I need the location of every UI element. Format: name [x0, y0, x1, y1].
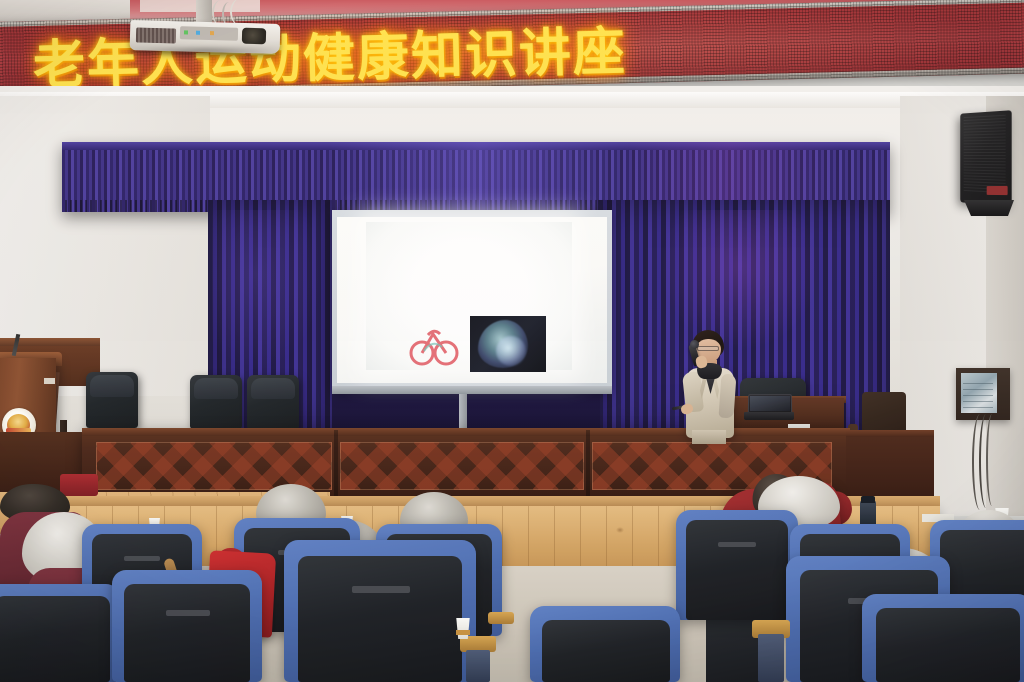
- female-presenter: [668, 330, 744, 438]
- curtain-highlight: [212, 210, 322, 370]
- vacuum-flask-cap: [861, 496, 875, 503]
- paper-cup-band: [456, 630, 470, 635]
- red-fabric-cover: [60, 474, 98, 496]
- stage-chair-headrest: [251, 378, 295, 399]
- screen-bottom-bar: [332, 386, 612, 394]
- stage-chair-headrest: [90, 375, 134, 397]
- seat-cushion: [0, 596, 110, 682]
- seat-cushion: [124, 584, 250, 682]
- seat-notch: [718, 542, 756, 547]
- railing-panel: [340, 442, 584, 490]
- curtain-sheen: [330, 142, 630, 212]
- screen-support-pole: [459, 394, 467, 432]
- presenter-lower-body: [692, 430, 726, 444]
- auditorium-scene: 老年人运动健康知识讲座: [0, 0, 1024, 682]
- lectern-name-plate: [44, 378, 55, 384]
- projector-vent: [136, 27, 176, 43]
- seat-notch: [124, 556, 160, 561]
- laptop-screen-glow: [750, 396, 790, 411]
- presenter-right-arm: [718, 374, 736, 419]
- seat-notch: [166, 610, 210, 616]
- wall-cabinet-glass-reflection: [963, 378, 993, 408]
- stage-chair-headrest: [194, 378, 238, 399]
- seat-cushion: [542, 620, 670, 682]
- curtain-highlight: [660, 210, 820, 350]
- laptop-keyboard[interactable]: [744, 412, 794, 420]
- ceiling-projector: [122, 0, 292, 60]
- railing-panel: [96, 442, 332, 490]
- seat-cushion: [686, 520, 788, 620]
- eyeglasses-icon: [697, 346, 719, 351]
- heart-diagram-icon: [404, 322, 462, 368]
- projector-mount-arm: [196, 0, 212, 24]
- wall-cable: [986, 414, 998, 506]
- seat-cushion: [876, 608, 1020, 682]
- wall-speaker-logo: [987, 186, 1008, 195]
- wall-speaker-grille: [964, 115, 1006, 193]
- projector-lens: [242, 28, 266, 45]
- projector-shadow: [132, 48, 278, 60]
- stage-railing-right-top: [846, 430, 934, 437]
- seat-armrest-post: [466, 650, 490, 682]
- brain-scan-highlight: [496, 336, 526, 366]
- seat-armrest-post: [758, 634, 784, 682]
- wall-speaker-bracket: [964, 200, 1014, 216]
- seat-armrest: [488, 612, 514, 624]
- railing-seam: [586, 430, 590, 500]
- seat-notch: [352, 586, 410, 593]
- railing-seam: [334, 430, 338, 500]
- seat-cushion: [298, 556, 462, 682]
